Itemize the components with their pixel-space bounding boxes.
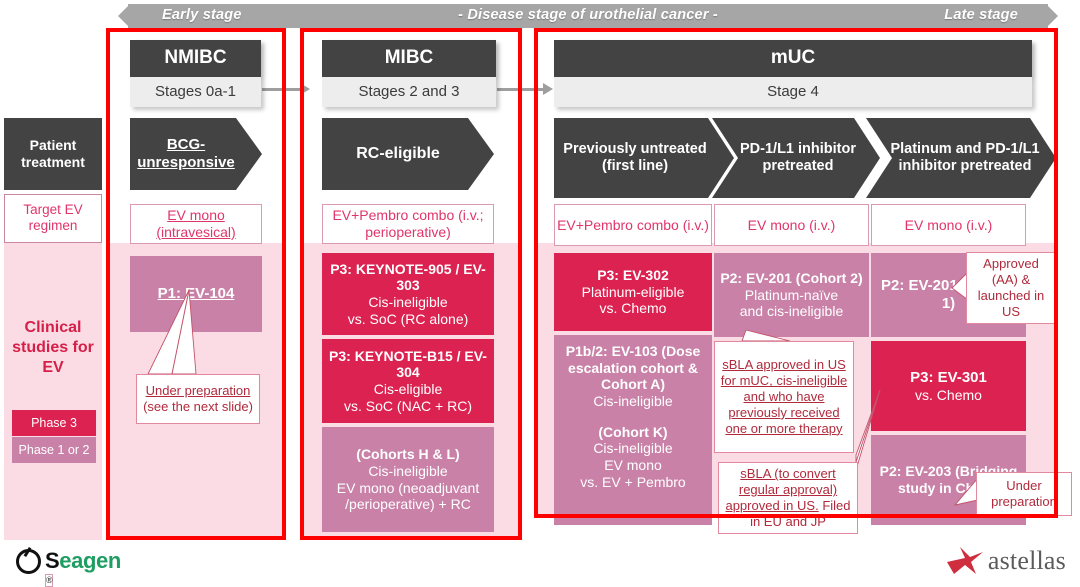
seagen-wordmark: Seagen® (45, 548, 121, 574)
disease-stage-band: Early stage - Disease stage of urothelia… (118, 4, 1058, 28)
legend-swatch-phase12: Phase 1 or 2 (12, 437, 96, 463)
band-label-middle: - Disease stage of urothelial cancer - (458, 7, 718, 23)
group-frame-mibc (300, 28, 522, 540)
band-right-cap (1046, 4, 1058, 28)
seagen-logo: Seagen® (16, 548, 121, 574)
studies-background-legend (4, 243, 102, 540)
clinical-studies-label: Clinical studies for EV (4, 318, 102, 378)
group-frame-nmibc (106, 28, 286, 540)
slide-canvas: Early stage - Disease stage of urothelia… (0, 0, 1080, 578)
patient-treatment-label: Patient treatment (4, 118, 102, 190)
astellas-wordmark: astellas (988, 546, 1066, 576)
band-label-late: Late stage (944, 7, 1018, 23)
legend-column: Patient treatment Target EV regimen (4, 118, 102, 243)
seagen-mark-icon (16, 549, 41, 574)
band-label-early: Early stage (162, 7, 242, 23)
astellas-star-icon (945, 546, 985, 576)
astellas-logo: astellas (945, 546, 1066, 576)
group-frame-muc (534, 28, 1058, 518)
legend-swatch-phase3: Phase 3 (12, 410, 96, 436)
target-regimen-label: Target EV regimen (4, 194, 102, 243)
